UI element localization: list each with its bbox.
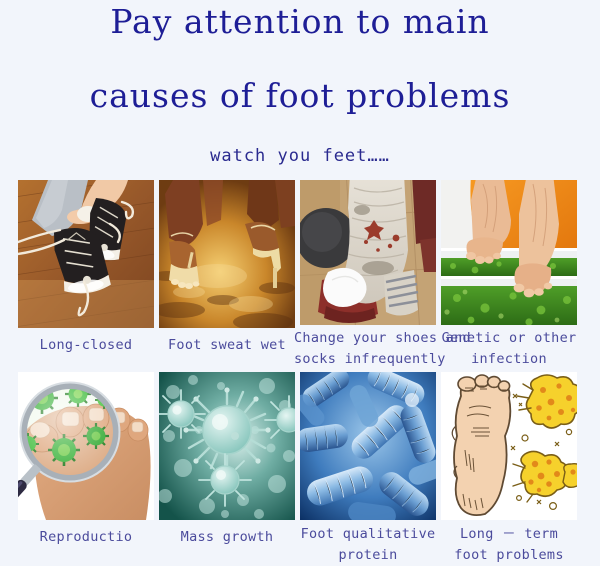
cell-caption-8: Long － term foot problems xyxy=(435,524,583,566)
image-illustrated-foot-sole-with-yellow-fungus xyxy=(441,372,577,520)
cell-caption-5: Reproductio xyxy=(12,527,160,548)
image-tying-black-sneakers-on-wood-floor xyxy=(18,180,154,328)
cell-caption-3: Change your shoes and socks infrequently xyxy=(294,328,442,370)
page-title-line-2: causes of foot problems xyxy=(0,76,600,115)
cell-caption-6: Mass growth xyxy=(153,527,301,548)
image-blue-rod-shaped-bacteria xyxy=(300,372,436,520)
cell-caption-4: Genetic or other infection xyxy=(435,328,583,370)
poster-root: Pay attention to main causes of foot pro… xyxy=(0,0,600,566)
image-feet-in-heels-on-wet-golden-ground xyxy=(159,180,295,328)
page-title-line-1: Pay attention to main xyxy=(0,2,600,41)
cell-caption-2: Foot sweat wet xyxy=(153,335,301,356)
cell-caption-1: Long-closed xyxy=(12,335,160,356)
image-bare-feet-on-steps-with-grass xyxy=(441,180,577,325)
subtitle: watch you feet…… xyxy=(0,146,600,166)
image-dirty-white-socks-on-floor xyxy=(300,180,436,325)
image-teal-virus-microbes-background xyxy=(159,372,295,520)
image-magnifier-over-toes-with-green-germs xyxy=(18,372,154,520)
cell-caption-7: Foot qualitative protein xyxy=(294,524,442,566)
